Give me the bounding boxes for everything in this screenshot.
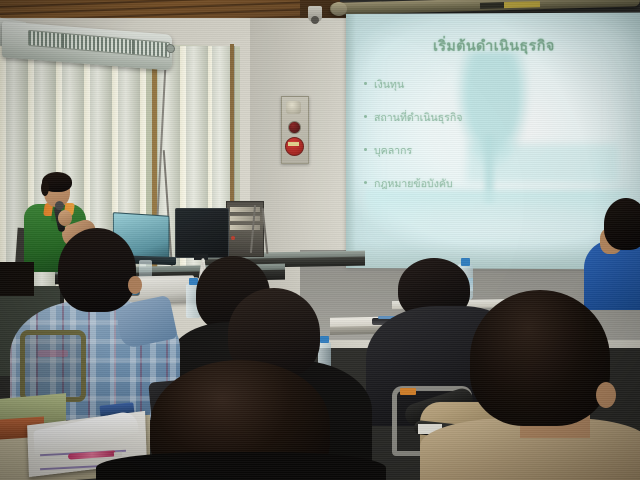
seminar-room-photo: เริ่มต้นดำเนินธุรกิจ เงินทุน สถานที่ดำเน…: [0, 0, 640, 480]
speaker-cone-icon: [311, 16, 319, 24]
alarm-bell-icon: [286, 101, 301, 114]
presenter-hair-side: [41, 180, 49, 196]
bullet-text: บุคลากร: [374, 142, 412, 159]
rack-power-led: [231, 236, 235, 240]
bullet-dot-icon: [364, 181, 367, 184]
slide-title: เริ่มต้นดำเนินธุรกิจ: [346, 35, 640, 58]
bottle-cap: [320, 336, 329, 343]
alarm-lamp-icon: [288, 121, 301, 134]
projection-screen-wrapper: เริ่มต้นดำเนินธุรกิจ เงินทุน สถานที่ดำเน…: [346, 13, 640, 270]
screen-edge-shading: [346, 14, 356, 268]
chair-tag: [400, 388, 416, 395]
bullet-text: เงินทุน: [374, 76, 404, 93]
bottle-cap: [461, 258, 470, 266]
attendee-plaid-ear: [128, 276, 142, 294]
air-conditioner-knob[interactable]: [166, 44, 175, 54]
slide-bullet-item: สถานที่ดำเนินธุรกิจ: [364, 109, 627, 126]
attendee-foreground-shoulders: [96, 452, 386, 480]
fire-alarm-button[interactable]: [285, 137, 304, 156]
pen-tip: [114, 452, 122, 458]
microphone-head-icon: [55, 201, 64, 210]
attendee-beige-shirt-ear: [596, 382, 616, 408]
bullet-dot-icon: [364, 82, 367, 85]
attendee-blue-shirt-head: [604, 198, 640, 250]
monitor: [175, 208, 229, 258]
alarm-button-label: [288, 142, 299, 146]
bullet-text: กฎหมายข้อบังคับ: [374, 175, 453, 192]
bullet-dot-icon: [364, 115, 367, 118]
slide-bullet-item: บุคลากร: [364, 142, 627, 159]
slide-bullet-item: เงินทุน: [364, 75, 627, 93]
presenter-hand: [58, 210, 72, 226]
chair-left[interactable]: [20, 330, 86, 402]
attendee-far-left-head: [0, 262, 34, 296]
bullet-text: สถานที่ดำเนินธุรกิจ: [374, 109, 462, 126]
projection-screen: เริ่มต้นดำเนินธุรกิจ เงินทุน สถานที่ดำเน…: [346, 13, 640, 270]
av-equipment-rack: [226, 201, 264, 257]
attendee-plaid-head: [58, 228, 136, 312]
attendee-beige-shirt-head: [470, 290, 610, 426]
slide-bullet-item: กฎหมายข้อบังคับ: [364, 175, 627, 193]
bullet-dot-icon: [364, 148, 367, 151]
slide-bullet-list: เงินทุน สถานที่ดำเนินธุรกิจ บุคลากร กฎหม…: [364, 75, 627, 208]
